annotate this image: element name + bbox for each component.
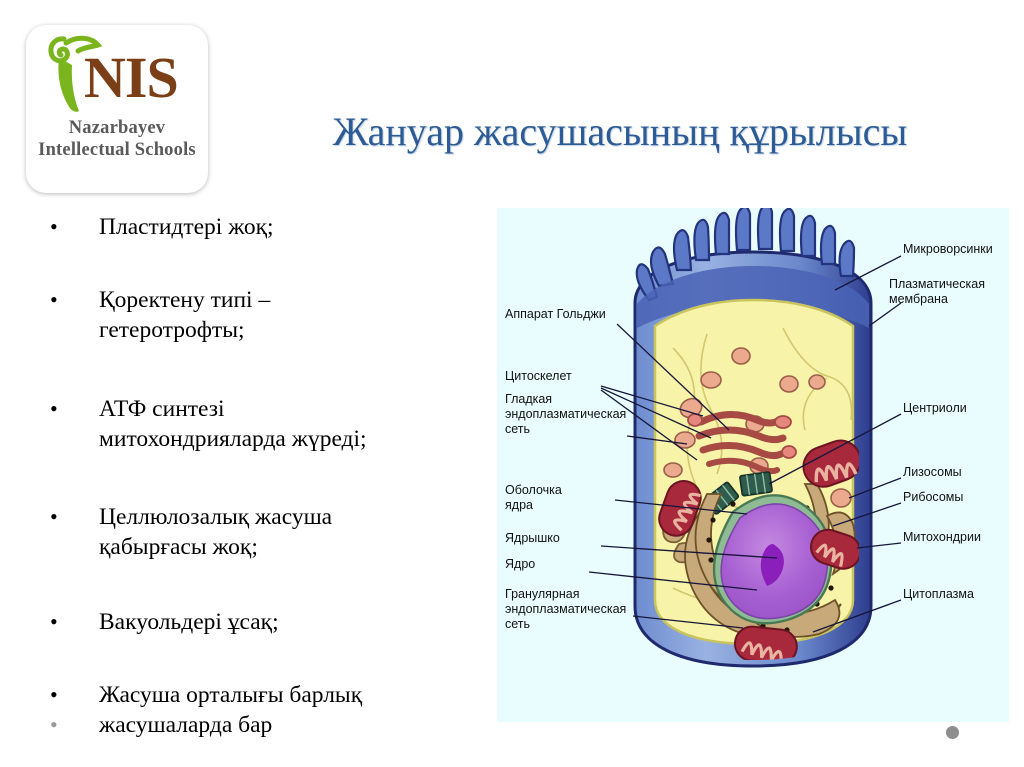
bullet-item: •Целлюлозалық жасуша қабырғасы жоқ; [50,502,332,562]
animal-cell-diagram: Аппарат ГольджиЦитоскелетГладкаяэндоплаз… [497,208,1009,722]
bullet-text: Жасуша орталығы барлық [99,680,362,710]
decorative-dot [946,726,959,739]
figure-label: Митохондрии [903,530,981,544]
figure-label: Цитоскелет [505,369,572,383]
bullet-text: Пластидтері жоқ; [99,212,274,242]
bullet-item: •Қоректену типі – гетеротрофты; [50,285,270,345]
figure-label: Центриоли [903,401,967,415]
bullet-item: •жасушаларда бар [50,710,272,740]
bullet-item: •Жасуша орталығы барлық [50,680,362,710]
figure-label: Гранулярнаяэндоплазматическаясеть [505,587,626,631]
nucleus-group [714,495,831,623]
figure-label: Аппарат Гольджи [505,307,606,321]
figure-label: Цитоплазма [903,587,974,601]
figure-label: Лизосомы [903,465,962,479]
bullet-marker-icon: • [50,502,66,532]
bullet-marker-icon: • [50,607,66,637]
page-title: Жануар жасушасының құрылысы [225,108,1015,155]
figure-label: Микроворсинки [903,242,993,256]
animal-cell-illustration: Аппарат ГольджиЦитоскелетГладкаяэндоплаз… [497,208,1009,722]
bullet-text: жасушаларда бар [99,710,272,740]
bullet-marker-icon: • [50,710,66,740]
nis-acronym: NIS [84,45,178,110]
bullet-marker-icon: • [50,394,66,424]
figure-label: Гладкаяэндоплазматическаясеть [505,392,626,436]
figure-labels-right: МикроворсинкиПлазматическаямембранаЦентр… [889,242,993,601]
figure-label: Оболочкаядра [505,483,562,512]
nis-logo-card: NIS Nazarbayev Intellectual Schools [26,25,208,193]
bullet-text: Вакуольдері ұсақ; [99,607,279,637]
figure-label: Плазматическаямембрана [889,277,985,306]
figure-label: Рибосомы [903,490,963,504]
figure-label: Ядрышко [505,531,560,545]
bullet-text: Қоректену типі – гетеротрофты; [99,285,270,345]
lysosome-labelled [831,489,851,507]
figure-labels-left: Аппарат ГольджиЦитоскелетГладкаяэндоплаз… [505,307,626,631]
bullet-marker-icon: • [50,680,66,710]
bullet-marker-icon: • [50,212,66,242]
bullet-marker-icon: • [50,285,66,315]
figure-label: Ядро [505,557,535,571]
bullet-text: АТФ синтезі митохондрияларда жүреді; [99,394,367,454]
bullet-text: Целлюлозалық жасуша қабырғасы жоқ; [99,502,332,562]
nis-logo-mark: NIS [26,25,208,125]
bullet-item: •Пластидтері жоқ; [50,212,274,242]
nis-logo-subtitle: Nazarbayev Intellectual Schools [26,117,208,161]
bullet-item: •Вакуольдері ұсақ; [50,607,279,637]
bullet-item: •АТФ синтезі митохондрияларда жүреді; [50,394,367,454]
